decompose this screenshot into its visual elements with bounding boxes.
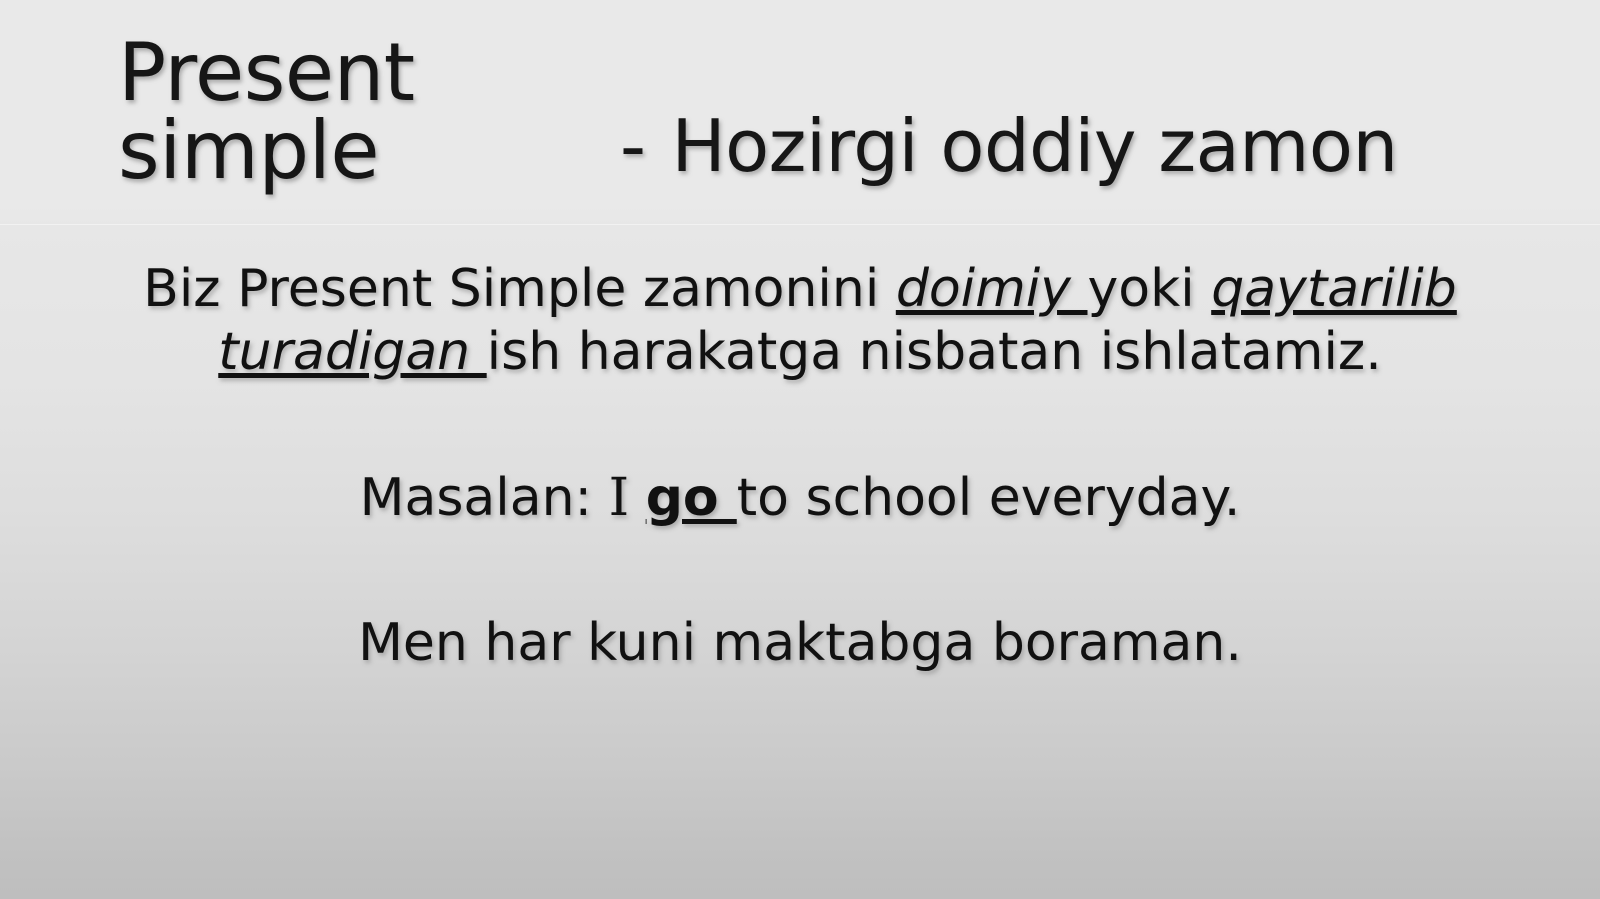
p1-segment-1: Biz Present Simple zamonini (143, 259, 896, 319)
p2-pronoun-i: I (609, 468, 630, 528)
slide-title: Present simple -Hozirgi oddiy zamon (0, 34, 1600, 214)
title-right-text: -Hozirgi oddiy zamon (620, 110, 1398, 182)
p2-bold-go: go (646, 468, 737, 528)
body-paragraph-2: Masalan: I go to school everyday. (118, 467, 1482, 530)
p1-segment-2: yoki (1088, 259, 1212, 319)
slide-body: Biz Present Simple zamonini doimiy yoki … (118, 258, 1482, 676)
title-dash: - (620, 110, 645, 182)
body-paragraph-3: Men har kuni maktabga boraman. (118, 612, 1482, 675)
body-paragraph-1: Biz Present Simple zamonini doimiy yoki … (118, 258, 1482, 385)
p2-segment-1: Masalan: (360, 468, 609, 528)
p1-segment-3: ish harakatga nisbatan ishlatamiz. (487, 322, 1382, 382)
slide-canvas: Present simple -Hozirgi oddiy zamon Biz … (0, 0, 1600, 899)
title-right-label: Hozirgi oddiy zamon (671, 104, 1397, 188)
title-left-line2: simple (118, 112, 588, 190)
title-left-line1: Present (118, 34, 588, 112)
p1-emphasis-doimiy: doimiy (896, 259, 1088, 319)
p2-segment-3: to school everyday. (737, 468, 1241, 528)
p2-segment-2 (629, 468, 646, 528)
title-left-text: Present simple (118, 34, 588, 191)
content-placeholder-edge (0, 224, 1600, 225)
